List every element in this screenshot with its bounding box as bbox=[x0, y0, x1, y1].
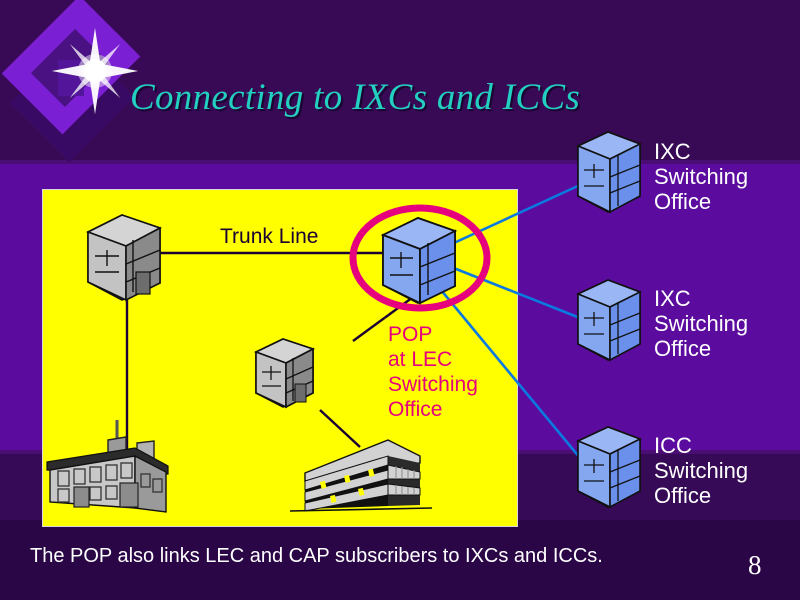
node-icc-switching-office bbox=[578, 427, 640, 507]
label-ixc-switching-office-2: IXC Switching Office bbox=[654, 286, 748, 361]
node-pop-building bbox=[353, 208, 487, 308]
node-cap-building bbox=[256, 339, 313, 407]
pop-label: POP at LEC Switching Office bbox=[388, 322, 478, 422]
node-ixc-switching-office-2 bbox=[578, 280, 640, 360]
node-ixc-switching-office-1 bbox=[578, 132, 640, 212]
node-residence bbox=[47, 420, 168, 512]
presentation-slide: Connecting to IXCs and ICCs bbox=[0, 0, 800, 600]
trunk-line-label: Trunk Line bbox=[220, 224, 318, 249]
label-icc-switching-office: ICC Switching Office bbox=[654, 433, 748, 508]
label-ixc-switching-office-1: IXC Switching Office bbox=[654, 139, 748, 214]
page-number: 8 bbox=[748, 550, 762, 581]
slide-caption: The POP also links LEC and CAP subscribe… bbox=[30, 545, 603, 568]
node-low-rise-office bbox=[290, 440, 432, 511]
node-lec-building bbox=[88, 215, 160, 300]
